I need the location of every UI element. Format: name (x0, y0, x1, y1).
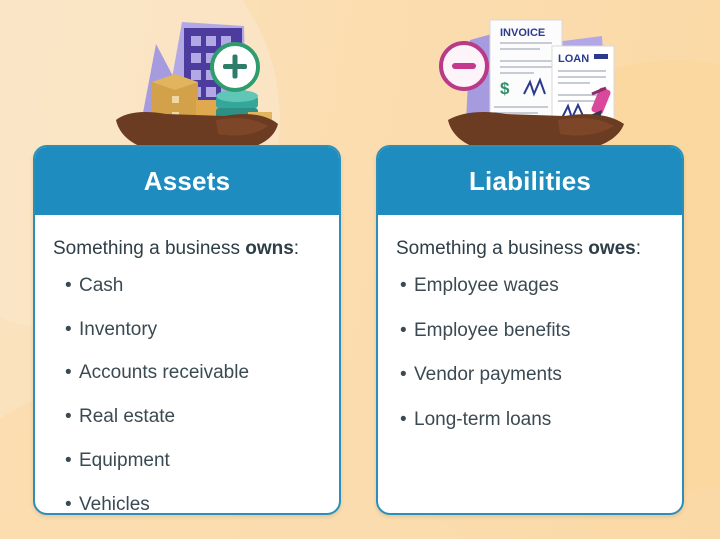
list-item-label: Accounts receivable (79, 362, 249, 385)
assets-lead-emphasis: owns (245, 238, 294, 259)
list-item-label: Vendor payments (414, 364, 562, 387)
assets-lead-suffix: : (294, 238, 299, 259)
bullet-marker: • (65, 494, 72, 515)
assets-lead-prefix: Something a business (53, 238, 245, 259)
list-item-label: Employee wages (414, 275, 559, 298)
list-item-label: Real estate (79, 406, 175, 429)
bullet-marker: • (400, 409, 407, 432)
bullet-marker: • (65, 406, 72, 429)
liabilities-card-header: Liabilities (378, 147, 682, 215)
list-item: •Inventory (53, 319, 323, 342)
bullet-marker: • (65, 275, 72, 298)
assets-card-title: Assets (144, 166, 230, 197)
liabilities-lead-text: Something a business owes: (396, 237, 666, 261)
invoice-document: INVOICE $ (490, 20, 562, 128)
liabilities-card-title: Liabilities (469, 166, 591, 197)
liabilities-card-body: Something a business owes: •Employee wag… (378, 215, 682, 513)
list-item: •Long-term loans (396, 409, 666, 432)
list-item-label: Vehicles (79, 494, 150, 515)
list-item-label: Inventory (79, 319, 157, 342)
liabilities-lead-prefix: Something a business (396, 238, 588, 259)
list-item: •Vendor payments (396, 364, 666, 387)
list-item-label: Employee benefits (414, 320, 570, 343)
bullet-marker: • (65, 450, 72, 473)
liabilities-bullet-list: •Employee wages •Employee benefits •Vend… (396, 275, 666, 432)
list-item: •Cash (53, 275, 323, 298)
liabilities-card: Liabilities Something a business owes: •… (376, 145, 684, 515)
liabilities-lead-suffix: : (636, 238, 641, 259)
list-item-label: Long-term loans (414, 409, 551, 432)
liabilities-lead-emphasis: owes (588, 238, 636, 259)
assets-card: Assets Something a business owns: •Cash … (33, 145, 341, 515)
assets-card-header: Assets (35, 147, 339, 215)
assets-illustration (96, 8, 296, 158)
bullet-marker: • (400, 320, 407, 343)
minus-circle-icon (441, 43, 487, 89)
bullet-marker: • (400, 275, 407, 298)
currency-symbol: $ (500, 79, 510, 98)
assets-card-body: Something a business owns: •Cash •Invent… (35, 215, 339, 515)
list-item: •Accounts receivable (53, 362, 323, 385)
loan-label: LOAN (558, 53, 589, 65)
assets-bullet-list: •Cash •Inventory •Accounts receivable •R… (53, 275, 323, 515)
list-item: •Employee wages (396, 275, 666, 298)
list-item: •Real estate (53, 406, 323, 429)
invoice-label: INVOICE (500, 27, 545, 39)
bullet-marker: • (400, 364, 407, 387)
bullet-marker: • (65, 319, 72, 342)
list-item: •Equipment (53, 450, 323, 473)
bullet-marker: • (65, 362, 72, 385)
liabilities-illustration: INVOICE $ LOAN (432, 6, 642, 158)
list-item-label: Cash (79, 275, 123, 298)
list-item: •Vehicles (53, 494, 323, 515)
list-item-label: Equipment (79, 450, 170, 473)
list-item: •Employee benefits (396, 320, 666, 343)
assets-lead-text: Something a business owns: (53, 237, 323, 261)
plus-circle-icon (212, 44, 258, 90)
